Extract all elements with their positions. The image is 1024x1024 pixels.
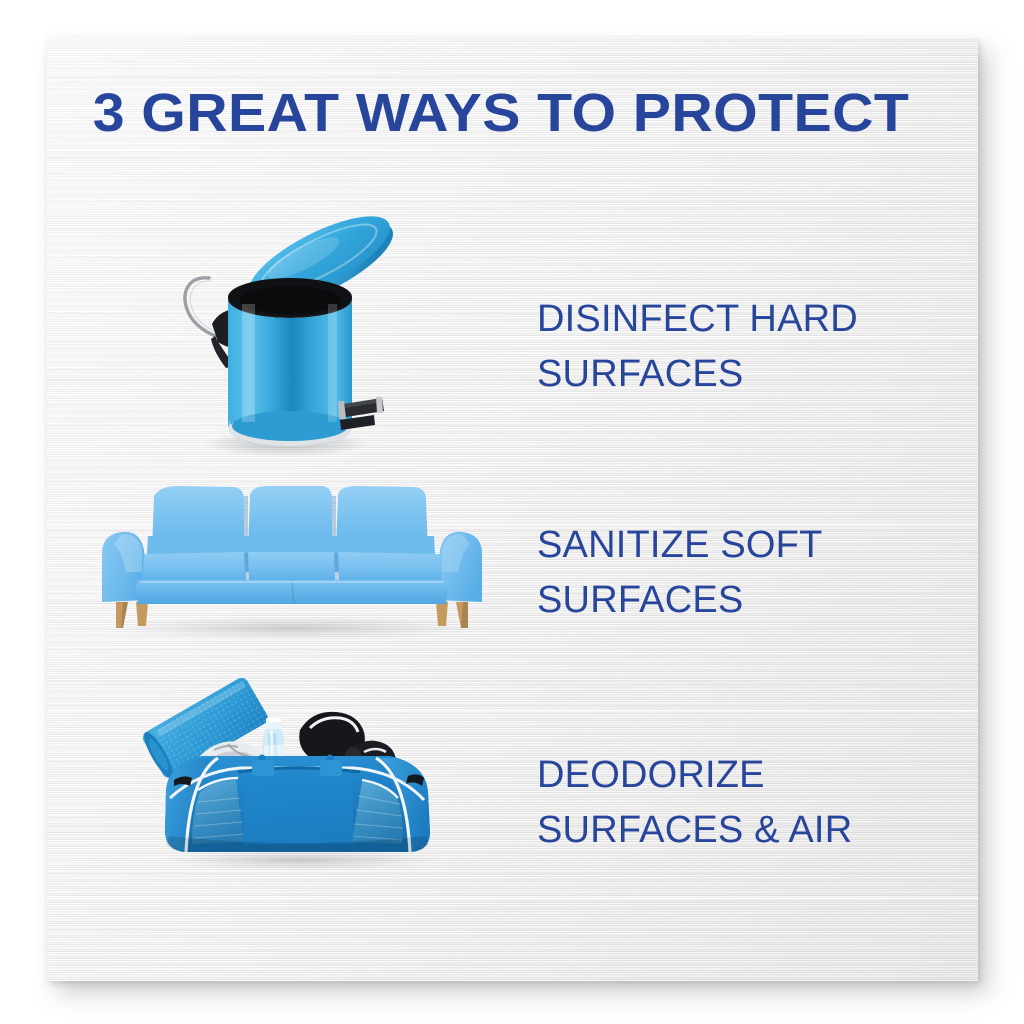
trash-can-illustration: [168, 196, 428, 466]
sofa-illustration: [92, 476, 492, 646]
duffel-bag-illustration: [140, 672, 450, 872]
benefit-line-2: SURFACES & AIR: [537, 803, 937, 858]
duffel-shadow: [162, 849, 438, 871]
sofa-seat-cushions: [142, 552, 442, 582]
sofa-shadow: [107, 616, 477, 640]
benefit-line-2: SURFACES: [537, 573, 937, 628]
poster-canvas: 3 GREAT WAYS TO PROTECT: [0, 0, 1024, 1024]
duffel-front-panel: [244, 773, 354, 844]
benefit-line-1: DEODORIZE: [537, 748, 937, 803]
page-title: 3 GREAT WAYS TO PROTECT: [82, 86, 919, 140]
benefit-line-2: SURFACES: [537, 347, 937, 402]
benefit-line-1: DISINFECT HARD: [537, 292, 937, 347]
trash-can-wire-handle: [185, 278, 218, 337]
benefit-caption-disinfect: DISINFECT HARD SURFACES: [537, 292, 937, 402]
benefit-caption-deodorize: DEODORIZE SURFACES & AIR: [537, 748, 937, 858]
benefit-caption-sanitize: SANITIZE SOFT SURFACES: [537, 518, 937, 628]
benefit-line-1: SANITIZE SOFT: [537, 518, 937, 573]
